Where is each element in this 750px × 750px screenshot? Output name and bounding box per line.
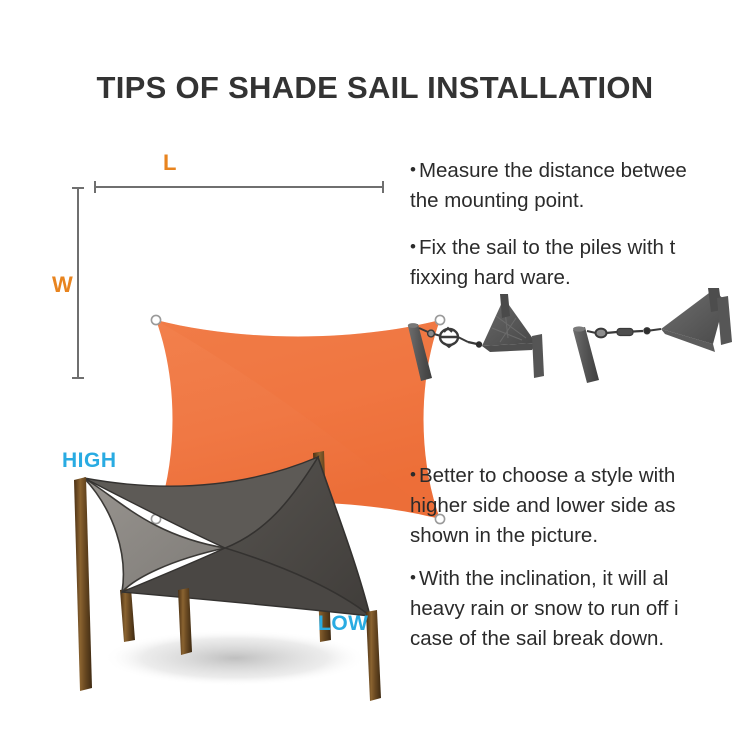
dimension-cap-top bbox=[72, 187, 84, 189]
sail-right-post bbox=[532, 334, 544, 378]
tip-measure-distance: •Measure the distance betwee the mountin… bbox=[410, 155, 687, 216]
tip-line: •Measure the distance betwee bbox=[410, 155, 687, 186]
tip-text: fixxing hard ware. bbox=[410, 266, 571, 289]
low-side-label: LOW bbox=[318, 612, 368, 636]
width-label: W bbox=[52, 272, 73, 298]
shackle bbox=[476, 341, 482, 347]
tip-text: shown in the picture. bbox=[410, 524, 598, 547]
tip-text: higher side and lower side as bbox=[410, 494, 676, 517]
tip-line: the mounting point. bbox=[410, 186, 687, 216]
dimension-bar bbox=[94, 186, 384, 188]
tip-line: shown in the picture. bbox=[410, 521, 676, 551]
tip-text: Fix the sail to the piles with t bbox=[419, 236, 675, 259]
tip-line: •With the inclination, it will al bbox=[410, 563, 679, 594]
page-title: TIPS OF SHADE SAIL INSTALLATION bbox=[0, 70, 750, 106]
sail-panel bbox=[661, 288, 732, 352]
carabiner-hardware bbox=[587, 328, 661, 338]
inclined-canopy-diagram bbox=[40, 440, 415, 710]
tip-inclination-runoff: •With the inclination, it will al heavy … bbox=[410, 563, 679, 654]
tip-text: Better to choose a style with bbox=[419, 464, 675, 487]
dimension-cap-left bbox=[94, 181, 96, 193]
canopy-illustration bbox=[40, 440, 415, 710]
dimension-cap-bottom bbox=[72, 377, 84, 379]
length-label: L bbox=[163, 150, 176, 176]
bullet-icon: • bbox=[410, 160, 419, 179]
tip-fix-sail-to-piles: •Fix the sail to the piles with t fixxin… bbox=[410, 232, 675, 293]
dimension-cap-right bbox=[382, 181, 384, 193]
tip-text: With the inclination, it will al bbox=[419, 567, 669, 590]
tip-line: higher side and lower side as bbox=[410, 491, 676, 521]
bullet-icon: • bbox=[410, 568, 419, 587]
post-front-left-high bbox=[74, 477, 92, 691]
tip-line: •Better to choose a style with bbox=[410, 460, 676, 491]
high-side-label: HIGH bbox=[62, 449, 117, 473]
bullet-icon: • bbox=[410, 465, 419, 484]
tip-choose-style: •Better to choose a style with higher si… bbox=[410, 460, 676, 551]
dimension-bar bbox=[77, 187, 79, 379]
tip-line: heavy rain or snow to run off i bbox=[410, 594, 679, 624]
tip-line: case of the sail break down. bbox=[410, 624, 679, 654]
grommet-top-left bbox=[151, 315, 160, 324]
sail-corner-panel bbox=[482, 294, 544, 378]
rectangular-sail-diagram bbox=[60, 140, 405, 400]
tip-line: •Fix the sail to the piles with t bbox=[410, 232, 675, 263]
hardware-illustration-pole-carabiner bbox=[565, 288, 750, 384]
sail-right-post bbox=[717, 296, 732, 345]
width-dimension-line bbox=[72, 187, 83, 379]
infographic-page: TIPS OF SHADE SAIL INSTALLATION bbox=[0, 0, 750, 750]
length-dimension-line bbox=[94, 181, 384, 192]
hardware-illustration-pole-turnbuckle bbox=[404, 288, 564, 384]
turnbuckle-hardware bbox=[419, 328, 477, 347]
tip-text: case of the sail break down. bbox=[410, 627, 664, 650]
tip-text: the mounting point. bbox=[410, 189, 584, 212]
post-back-left-low bbox=[120, 588, 135, 642]
tip-text: heavy rain or snow to run off i bbox=[410, 597, 679, 620]
tip-text: Measure the distance betwee bbox=[419, 159, 687, 182]
bullet-icon: • bbox=[410, 237, 419, 256]
